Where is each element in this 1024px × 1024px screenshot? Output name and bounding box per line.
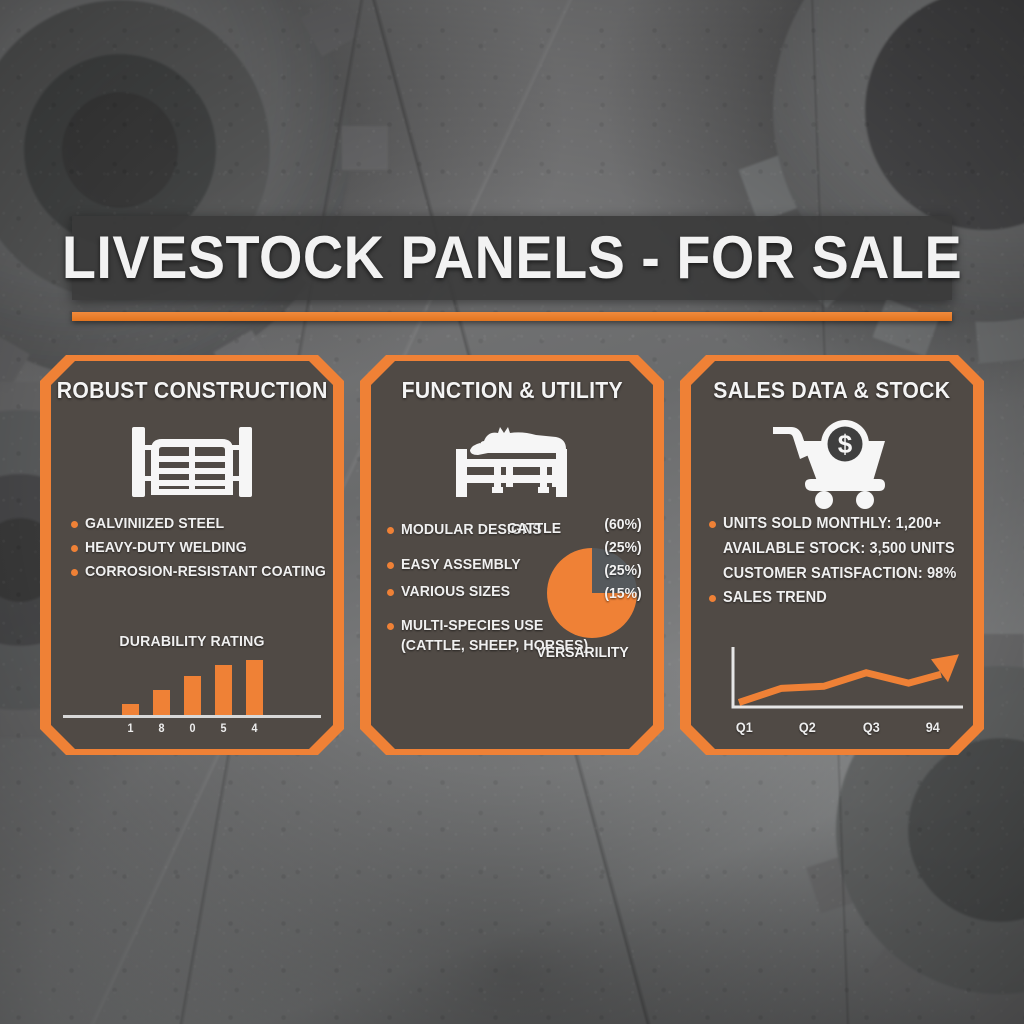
- pie-pct: (60%): [604, 516, 641, 533]
- bullet-dot-icon: [71, 521, 78, 528]
- list-item-label: MULTI-SPECIES USE: [401, 616, 543, 635]
- list-item-label: HEAVY-DUTY WELDING: [85, 538, 247, 557]
- list-item-label: VARIOUS SIZES: [401, 582, 510, 601]
- card-title: FUNCTION & UTILITY: [401, 377, 622, 404]
- bar-x-label: 5: [215, 721, 230, 735]
- bullet-dot-icon: [71, 545, 78, 552]
- stats-list: UNITS SOLD MONTHLY: 1,200+ AVAILABLE STO…: [703, 514, 961, 613]
- pie-label-versatility: VERSARILITY: [536, 644, 628, 661]
- feature-list: MODULAR DESIGNS EASY ASSEMBLY VARIOUS SI…: [387, 514, 539, 739]
- bullet-dot-icon: [71, 569, 78, 576]
- bar-x-label: 4: [246, 721, 261, 735]
- card-title: ROBUST CONSTRUCTION: [57, 377, 328, 404]
- bar-5: [215, 665, 232, 715]
- bullet-dot-spacer: [709, 571, 716, 578]
- line-x-label: Q3: [863, 719, 880, 735]
- title-band: LIVESTOCK PANELS - FOR SALE: [72, 216, 952, 300]
- feature-list: GALVINIIZED STEEL HEAVY-DUTY WELDING COR…: [63, 514, 321, 587]
- list-item: SALES TREND: [709, 588, 955, 608]
- bullet-dot-icon: [387, 527, 394, 534]
- pie-label-cattle: CATTLE: [507, 520, 561, 537]
- gate-panel-icon: [126, 410, 258, 514]
- bullet-dot-icon: [709, 521, 716, 528]
- card-sales-data-stock[interactable]: SALES DATA & STOCK: [680, 355, 984, 755]
- line-x-label: 94: [926, 719, 940, 735]
- list-item: CORROSION-RESISTANT COATING: [71, 562, 313, 581]
- shopping-cart-dollar-icon: $: [769, 410, 895, 514]
- bar-x-label: 0: [184, 721, 199, 735]
- list-item: VARIOUS SIZES: [387, 582, 539, 601]
- card-function-utility[interactable]: FUNCTION & UTILITY: [360, 355, 664, 755]
- bullet-dot-icon: [387, 623, 394, 630]
- list-item: CUSTOMER SATISFACTION: 98%: [709, 564, 955, 584]
- page-title: LIVESTOCK PANELS - FOR SALE: [62, 228, 962, 288]
- card-row: ROBUST CONSTRUCTION: [40, 355, 984, 755]
- list-item-label: UNITS SOLD MONTHLY: 1,200+: [723, 514, 941, 534]
- bar-8: [153, 690, 170, 715]
- list-item-label: GALVINIIZED STEEL: [85, 514, 224, 533]
- bar-series: [63, 656, 321, 718]
- bullet-dot-icon: [387, 562, 394, 569]
- bar-0: [184, 676, 201, 715]
- list-item: HEAVY-DUTY WELDING: [71, 538, 313, 557]
- pie-pct: (25%): [604, 562, 641, 579]
- bullet-dot-spacer: [709, 546, 716, 553]
- list-item-label: CORROSION-RESISTANT COATING: [85, 562, 326, 581]
- line-x-axis-labels: Q1Q2Q394: [719, 717, 945, 735]
- list-item-label: AVAILABLE STOCK: 3,500 UNITS: [723, 539, 955, 559]
- list-item: EASY ASSEMBLY: [387, 555, 539, 574]
- versatility-pie-chart: CATTLE (60%) (25%) (25%) (15%) VERSARILI…: [541, 514, 637, 739]
- pie-pct: (25%): [604, 539, 641, 556]
- infographic-canvas: LIVESTOCK PANELS - FOR SALE ROBUST CONST…: [0, 0, 1024, 1024]
- line-x-label: Q2: [799, 719, 816, 735]
- pie-pct: (15%): [604, 585, 641, 602]
- bullet-dot-spacer: [387, 643, 394, 650]
- chart-title: DURABILITY RATING: [71, 633, 314, 650]
- list-item: MULTI-SPECIES USE: [387, 616, 539, 635]
- line-chart-svg: [719, 645, 969, 717]
- card-title: SALES DATA & STOCK: [714, 377, 951, 404]
- bar-x-label: 8: [153, 721, 168, 735]
- cow-fence-icon: [444, 410, 580, 514]
- svg-text:$: $: [838, 429, 853, 459]
- list-item-label: CUSTOMER SATISFACTION: 98%: [723, 564, 956, 584]
- line-x-label: Q1: [736, 719, 753, 735]
- pie-percentage-annotations: (60%) (25%) (25%) (15%): [603, 516, 643, 602]
- card-robust-construction[interactable]: ROBUST CONSTRUCTION: [40, 355, 344, 755]
- title-block: LIVESTOCK PANELS - FOR SALE: [72, 216, 952, 321]
- list-item-label: SALES TREND: [723, 588, 827, 608]
- bullet-dot-icon: [709, 595, 716, 602]
- list-item: (CATTLE, SHEEP, HORSES): [387, 636, 539, 655]
- bar-x-label: 1: [122, 721, 137, 735]
- bullet-dot-icon: [387, 589, 394, 596]
- title-underline-rule: [72, 312, 952, 321]
- list-item: AVAILABLE STOCK: 3,500 UNITS: [709, 539, 955, 559]
- bar-x-axis-labels: 18054: [63, 718, 321, 735]
- bar-1: [122, 704, 139, 715]
- durability-bar-chart: DURABILITY RATING 18054: [63, 633, 321, 739]
- list-item: UNITS SOLD MONTHLY: 1,200+: [709, 514, 955, 534]
- bar-4: [246, 660, 263, 715]
- list-item: GALVINIIZED STEEL: [71, 514, 313, 533]
- list-item-label: EASY ASSEMBLY: [401, 555, 521, 574]
- sales-trend-line-chart: Q1Q2Q394: [703, 645, 961, 739]
